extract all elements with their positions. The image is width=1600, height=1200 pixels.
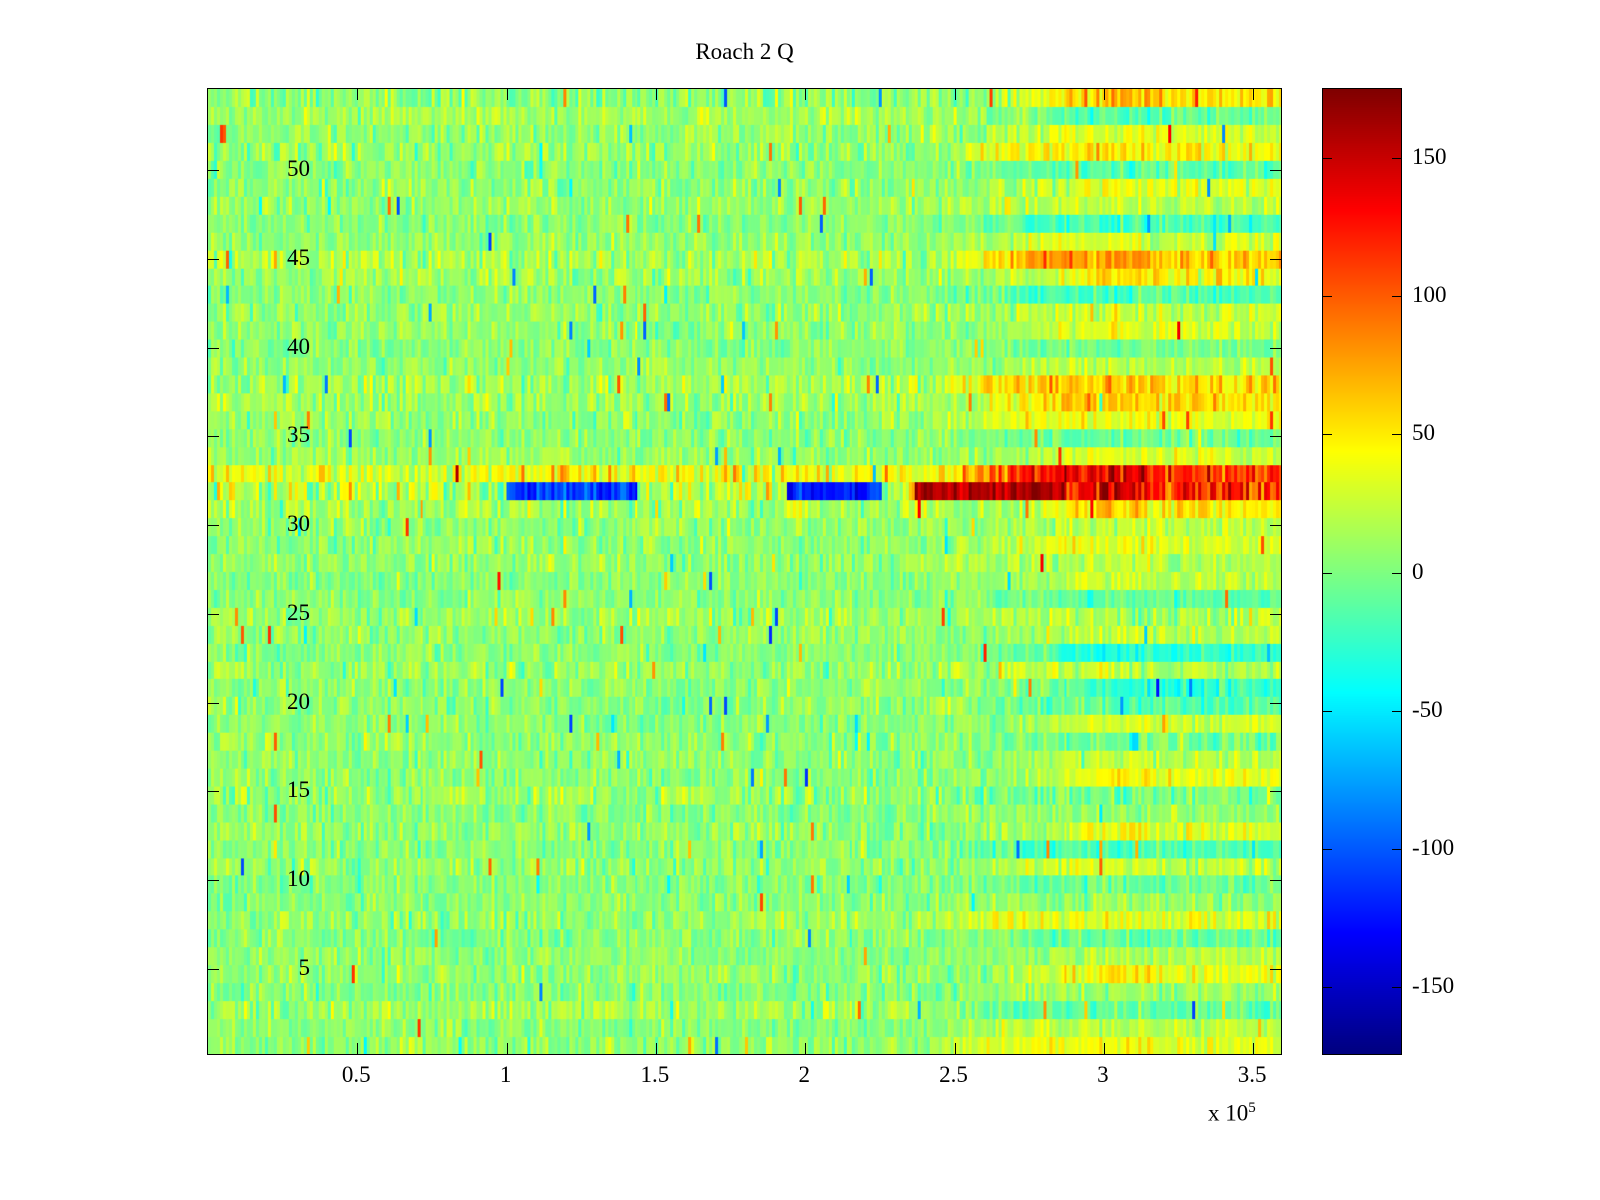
x-axis-tick-top — [357, 89, 358, 100]
colorbar-tick — [1323, 711, 1332, 712]
y-axis-tick-label: 25 — [190, 600, 310, 626]
x-axis-tick — [1253, 1043, 1254, 1054]
colorbar-tick-right — [1392, 987, 1401, 988]
x-axis-tick-top — [1253, 89, 1254, 100]
x-axis-tick-label: 1 — [446, 1062, 566, 1088]
y-axis-tick-label: 30 — [190, 511, 310, 537]
y-axis-tick-right — [1270, 791, 1281, 792]
x-axis-tick-label: 0.5 — [296, 1062, 416, 1088]
colorbar-tick — [1323, 849, 1332, 850]
x-exponent-base: x 10 — [1208, 1101, 1248, 1126]
colorbar-tick — [1323, 573, 1332, 574]
x-axis-tick — [805, 1043, 806, 1054]
x-axis-tick-label: 1.5 — [595, 1062, 715, 1088]
x-exponent-power: 5 — [1248, 1100, 1256, 1116]
x-axis-tick — [357, 1043, 358, 1054]
y-axis-tick-label: 10 — [190, 866, 310, 892]
y-axis-tick-right — [1270, 525, 1281, 526]
page-title: Roach 2 Q — [207, 40, 1282, 63]
x-axis-tick-label: 3.5 — [1192, 1062, 1312, 1088]
colorbar-tick — [1323, 434, 1332, 435]
x-axis-tick — [1104, 1043, 1105, 1054]
y-axis-tick-right — [1270, 259, 1281, 260]
colorbar-tick-right — [1392, 434, 1401, 435]
colorbar-tick-right — [1392, 711, 1401, 712]
colorbar-tick-label: -50 — [1412, 697, 1443, 723]
colorbar-tick — [1323, 296, 1332, 297]
y-axis-tick-right — [1270, 703, 1281, 704]
colorbar-tick-right — [1392, 849, 1401, 850]
x-axis-tick — [656, 1043, 657, 1054]
colorbar-tick-label: 150 — [1412, 144, 1447, 170]
x-axis-tick-top — [656, 89, 657, 100]
y-axis-tick-label: 20 — [190, 689, 310, 715]
y-axis-tick-right — [1270, 614, 1281, 615]
y-axis-tick-right — [1270, 969, 1281, 970]
figure-root: Roach 2 Q 51015202530354045500.511.522.5… — [0, 0, 1600, 1200]
colorbar-tick-right — [1392, 296, 1401, 297]
colorbar-tick-label: 0 — [1412, 559, 1424, 585]
x-axis-exponent-label: x 105 — [1208, 1100, 1256, 1127]
y-axis-tick-label: 40 — [190, 334, 310, 360]
colorbar-tick-label: -100 — [1412, 835, 1454, 861]
colorbar-tick-label: 50 — [1412, 420, 1435, 446]
x-axis-tick-label: 3 — [1043, 1062, 1163, 1088]
x-axis-tick-label: 2 — [744, 1062, 864, 1088]
x-axis-tick — [955, 1043, 956, 1054]
y-axis-tick-label: 45 — [190, 245, 310, 271]
y-axis-tick-label: 15 — [190, 777, 310, 803]
y-axis-tick-right — [1270, 170, 1281, 171]
heatmap-image — [208, 89, 1281, 1054]
colorbar-tick-label: 100 — [1412, 282, 1447, 308]
colorbar-gradient — [1323, 89, 1401, 1054]
colorbar-tick-right — [1392, 158, 1401, 159]
y-axis-tick-right — [1270, 348, 1281, 349]
y-axis-tick-right — [1270, 880, 1281, 881]
colorbar — [1322, 88, 1402, 1055]
heatmap-axes — [207, 88, 1282, 1055]
colorbar-tick-label: -150 — [1412, 973, 1454, 999]
x-axis-tick-label: 2.5 — [894, 1062, 1014, 1088]
x-axis-tick-top — [507, 89, 508, 100]
colorbar-tick-right — [1392, 573, 1401, 574]
x-axis-tick-top — [955, 89, 956, 100]
y-axis-tick-right — [1270, 436, 1281, 437]
x-axis-tick-top — [805, 89, 806, 100]
x-axis-tick — [507, 1043, 508, 1054]
y-axis-tick-label: 5 — [190, 955, 310, 981]
colorbar-tick — [1323, 987, 1332, 988]
y-axis-tick-label: 35 — [190, 422, 310, 448]
y-axis-tick-label: 50 — [190, 156, 310, 182]
colorbar-tick — [1323, 158, 1332, 159]
x-axis-tick-top — [1104, 89, 1105, 100]
